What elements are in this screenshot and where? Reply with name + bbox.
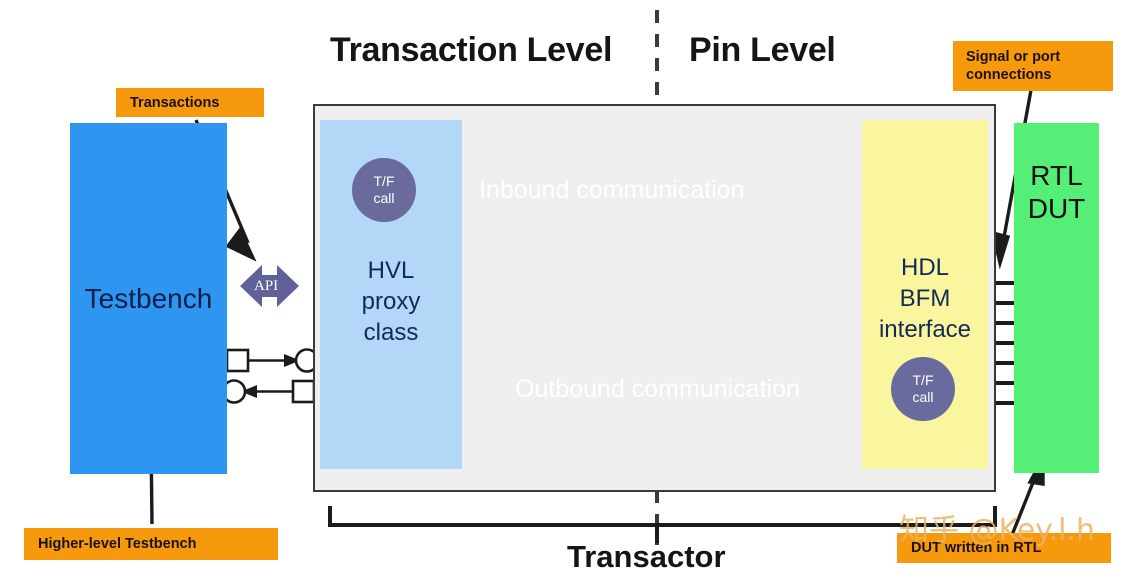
rtl-dut-label: RTL DUT xyxy=(1028,159,1086,225)
hvl-label-line3: class xyxy=(320,317,462,348)
callout-dut-written-in-rtl-label: DUT written in RTL xyxy=(911,539,1042,557)
callout-higher-level-testbench[interactable]: Higher-level Testbench xyxy=(24,528,278,560)
transactor-heading: Transactor xyxy=(567,539,726,575)
callout-signal-or-port-connections[interactable]: Signal or port connections xyxy=(953,41,1113,91)
transactor-bracket xyxy=(330,508,995,541)
testbench-block[interactable]: Testbench xyxy=(70,123,227,474)
rtl-label-line2: DUT xyxy=(1028,193,1086,224)
hdl-label-line3: interface xyxy=(855,314,995,345)
outbound-communication-label: Outbound communication xyxy=(515,375,800,404)
transaction-level-heading: Transaction Level xyxy=(330,31,612,70)
callout-signal-or-port-line1: Signal or port xyxy=(966,48,1060,66)
hvl-label-line1: HVL xyxy=(320,255,462,286)
callout-dut-written-in-rtl[interactable]: DUT written in RTL xyxy=(897,533,1111,563)
tf-call-outbound-line2: call xyxy=(912,389,933,406)
hdl-label-line1: HDL xyxy=(855,252,995,283)
callout-transactions[interactable]: Transactions xyxy=(116,88,264,117)
callout-transactions-label: Transactions xyxy=(130,94,219,112)
testbench-block-label: Testbench xyxy=(85,283,213,315)
hvl-proxy-class-label: HVL proxy class xyxy=(320,255,462,348)
pin-level-heading: Pin Level xyxy=(689,31,836,70)
rtl-label-line1: RTL xyxy=(1030,160,1082,191)
inbound-communication-label: Inbound communication xyxy=(479,176,744,205)
diagram-canvas: Transaction Level Pin Level Transactor T… xyxy=(0,0,1136,582)
rtl-dut-block[interactable]: RTL DUT xyxy=(1014,123,1099,473)
tf-call-inbound-line2: call xyxy=(373,190,394,207)
api-arrow-label: API xyxy=(254,278,278,295)
tf-call-outbound-line1: T/F xyxy=(913,372,934,389)
tf-call-inbound-line1: T/F xyxy=(374,173,395,190)
tf-call-circle-inbound[interactable]: T/F call xyxy=(352,158,416,222)
hvl-label-line2: proxy xyxy=(320,286,462,317)
callout-signal-or-port-line2: connections xyxy=(966,66,1051,84)
callout-higher-level-testbench-label: Higher-level Testbench xyxy=(38,535,196,553)
tb-hvl-connector-bottom xyxy=(223,381,314,403)
tb-hvl-connector-top xyxy=(227,350,318,372)
hdl-bfm-interface-label: HDL BFM interface xyxy=(855,252,995,345)
tf-call-circle-outbound[interactable]: T/F call xyxy=(891,357,955,421)
hdl-label-line2: BFM xyxy=(855,283,995,314)
